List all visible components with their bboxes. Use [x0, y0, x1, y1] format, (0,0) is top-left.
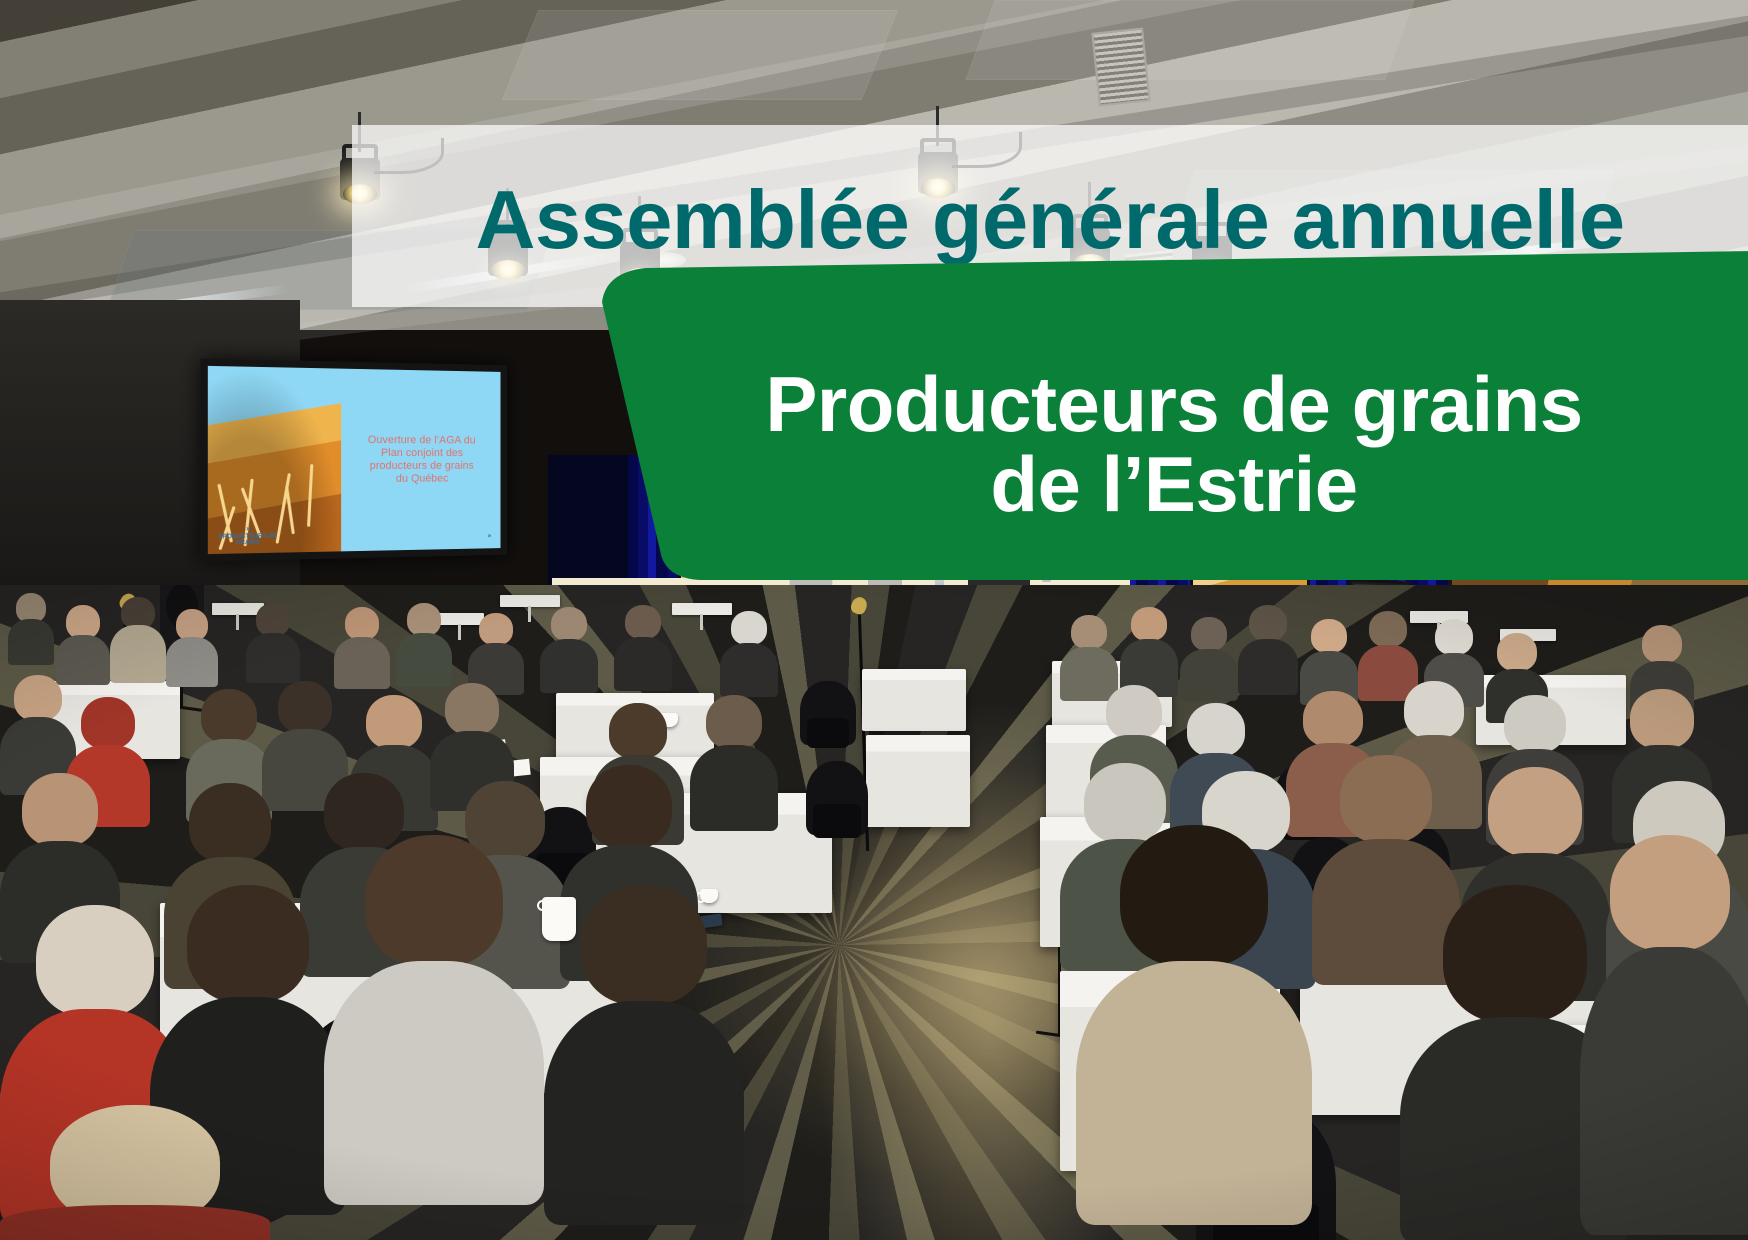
slide-corner-mark: »: [488, 533, 492, 541]
audience-member: [720, 611, 778, 697]
audience-member: [1580, 835, 1748, 1235]
poster-canvas: » PRODUCTEURS DE GRAINS Ouverture de l’A…: [0, 0, 1748, 1240]
slide-line-3: producteurs de grains: [370, 460, 474, 473]
table-placard: [500, 595, 560, 607]
slide-line-2: Plan conjoint des: [381, 447, 463, 460]
banquet-chair: [806, 761, 868, 835]
slide-line-4: du Québec: [396, 473, 449, 486]
paper-cup: [542, 897, 576, 941]
audience-area: [0, 585, 1748, 1240]
page-title: Assemblée générale annuelle: [475, 178, 1624, 261]
audience-member: [540, 607, 598, 693]
audience-member: [1180, 617, 1238, 701]
ceiling-panel: [965, 0, 1414, 80]
ceiling-panel: [502, 10, 898, 100]
audience-member: [614, 605, 672, 691]
audience-member: [324, 835, 544, 1205]
slide-line-1: Ouverture de l’AGA du: [368, 434, 476, 447]
slide-wheat-photo: » PRODUCTEURS DE GRAINS: [208, 366, 342, 554]
audience-member: [690, 695, 778, 831]
audience-member: [56, 605, 110, 685]
audience-member: [1238, 605, 1298, 695]
audience-member: [1076, 825, 1312, 1225]
green-banner-path: [602, 250, 1748, 580]
green-banner-shape: [560, 250, 1748, 590]
audience-member: [166, 609, 218, 687]
audience-member: [8, 593, 54, 665]
projection-screen: » PRODUCTEURS DE GRAINS Ouverture de l’A…: [200, 358, 507, 561]
audience-member: [396, 603, 452, 687]
slide-logo: » PRODUCTEURS DE GRAINS: [218, 525, 276, 547]
audience-member: [0, 1105, 270, 1240]
audience-member: [246, 603, 300, 683]
audience-member: [1120, 607, 1178, 697]
audience-member: [334, 607, 390, 689]
banquet-table: [862, 669, 966, 731]
slide-text: Ouverture de l’AGA du Plan conjoint des …: [341, 369, 500, 552]
air-vent: [1091, 27, 1150, 106]
banquet-chair: [800, 681, 856, 745]
audience-member: [110, 597, 166, 683]
slide-logo-line2: GRAINS: [218, 540, 276, 548]
banquet-table: [866, 735, 970, 827]
